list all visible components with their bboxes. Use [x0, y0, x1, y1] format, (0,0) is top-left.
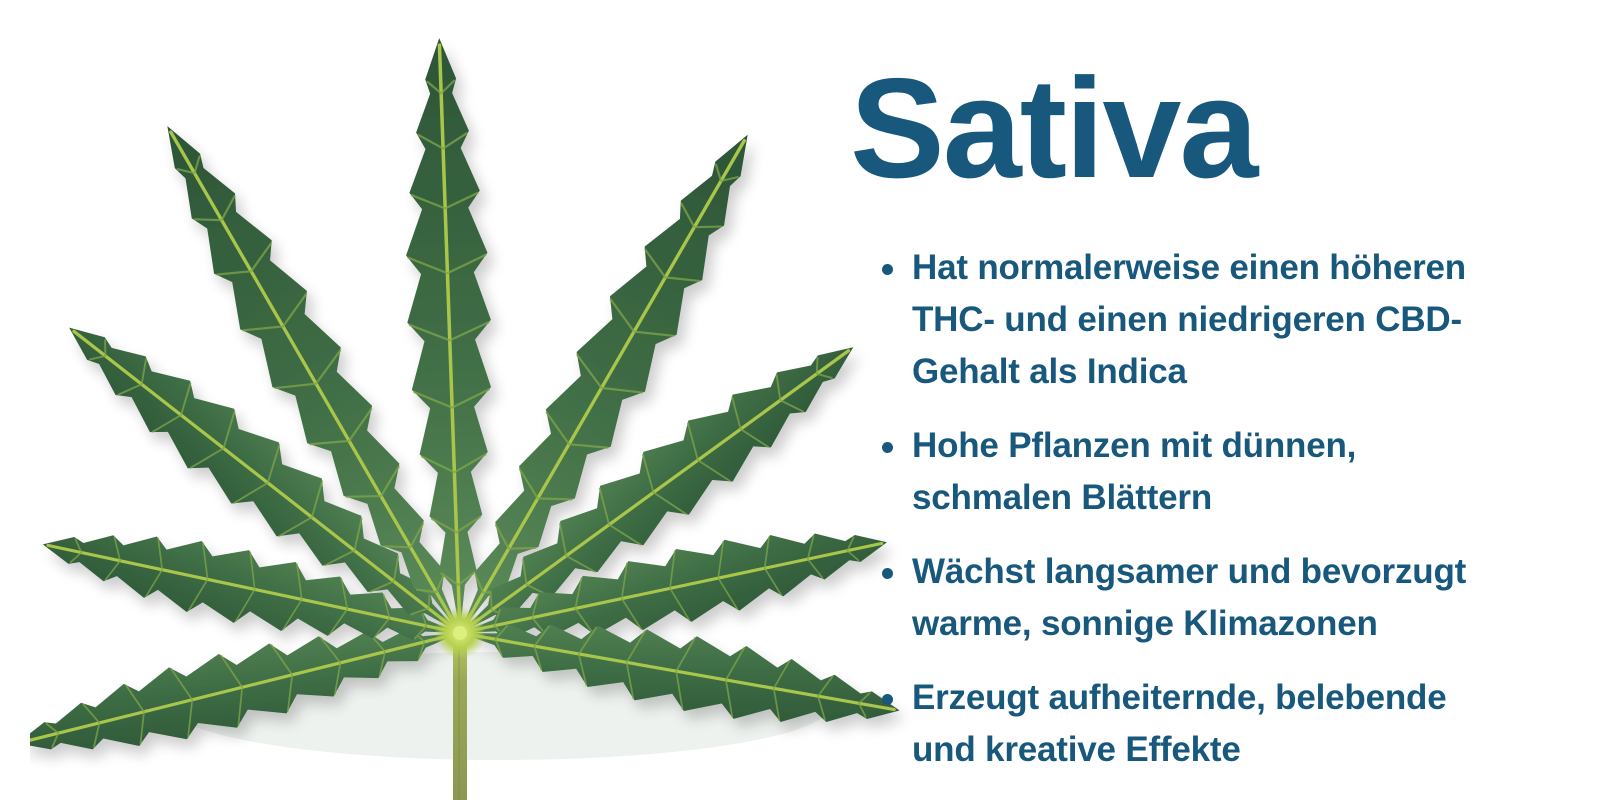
page-title: Sativa — [850, 58, 1256, 200]
text-panel: Sativa Hat normalerweise einen höheren T… — [848, 0, 1568, 800]
leaf-hub — [453, 626, 467, 640]
bullet-dot-icon — [882, 264, 893, 275]
list-item: Erzeugt aufheiternde, belebende und krea… — [876, 672, 1516, 776]
list-item: Hat normalerweise einen höheren THC- und… — [876, 242, 1516, 398]
bullet-dot-icon — [882, 568, 893, 579]
bullet-dot-icon — [882, 694, 893, 705]
list-item-label: Hat normalerweise einen höheren THC- und… — [912, 248, 1466, 391]
slide-root: Cannabis sativa leaf with nine serrated … — [0, 0, 1600, 800]
list-item-label: Hohe Pflanzen mit dünnen, schmalen Blätt… — [912, 426, 1356, 517]
leaf-stem — [453, 636, 467, 800]
list-item: Wächst langsamer und bevorzugt warme, so… — [876, 546, 1516, 650]
cannabis-leaf-image: Cannabis sativa leaf with nine serrated … — [30, 16, 970, 800]
bullet-dot-icon — [882, 442, 893, 453]
list-item-label: Erzeugt aufheiternde, belebende und krea… — [912, 678, 1446, 769]
list-item-label: Wächst langsamer und bevorzugt warme, so… — [912, 552, 1466, 643]
list-item: Hohe Pflanzen mit dünnen, schmalen Blätt… — [876, 420, 1516, 524]
feature-bullet-list: Hat normalerweise einen höheren THC- und… — [876, 242, 1516, 776]
cannabis-leaf-svg — [30, 16, 970, 800]
